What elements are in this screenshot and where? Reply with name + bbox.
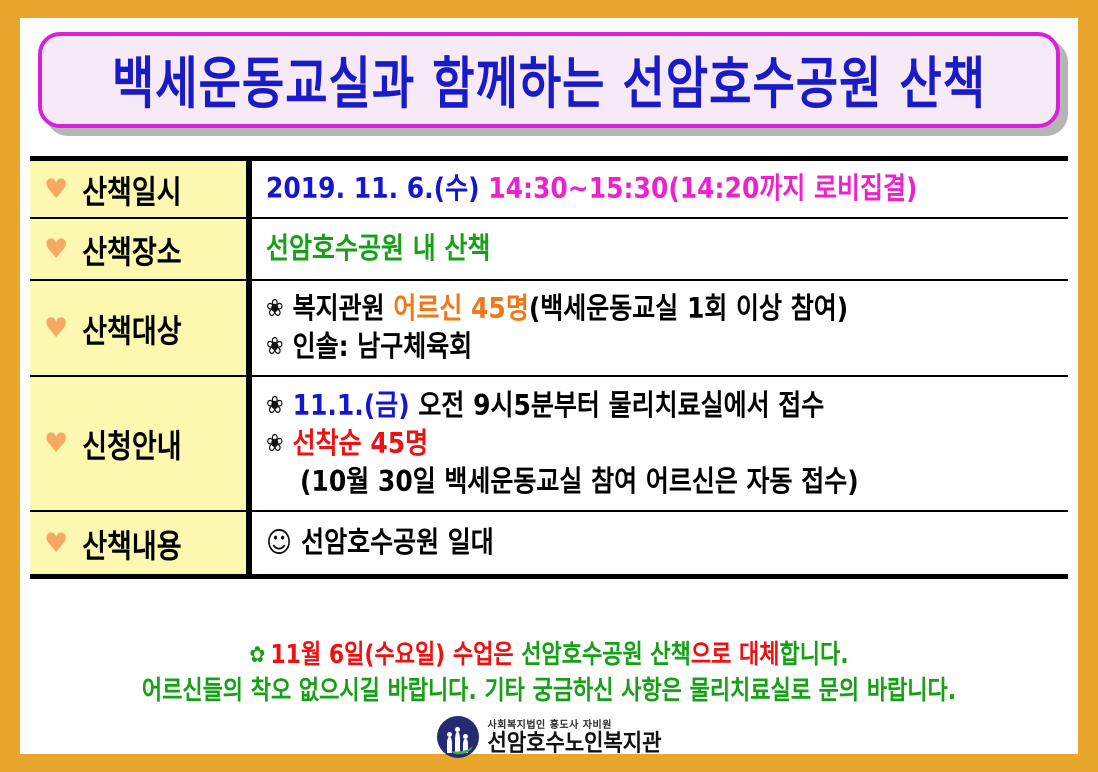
value-line: ❀선착순 45명 [266,422,1068,466]
flower-bullet-icon: ❀ [266,391,284,419]
text-segment: 으로 대체 [691,641,780,671]
row-label-cell: ♥산책내용 [30,512,252,574]
row-value-cell: 2019. 11. 6.(수) 14:30~15:30(14:20까지 로비집결… [252,161,1068,217]
page-title: 백세운동교실과 함께하는 선암호수공원 산책 [112,40,986,121]
table-row: ♥산책일시2019. 11. 6.(수) 14:30~15:30(14:20까지… [30,161,1068,219]
row-value-cell: ❀11.1.(금) 오전 9시5분부터 물리치료실에서 접수❀선착순 45명(1… [252,377,1068,510]
heart-icon: ♥ [44,236,68,263]
text-segment: 9시5분 [473,388,554,421]
poster-inner: 백세운동교실과 함께하는 선암호수공원 산책 ♥산책일시2019. 11. 6.… [20,18,1078,754]
text-segment: 어르신들의 착오 없으시길 바랍니다. 기타 궁금하신 사항은 물리치료실로 문… [142,676,956,706]
value-line: 2019. 11. 6.(수) 14:30~15:30(14:20까지 로비집결… [266,167,1068,211]
footer-notes: ✿11월 6일(수요일) 수업은 선암호수공원 산책으로 대체합니다.어르신들의… [30,638,1068,709]
heart-icon: ♥ [44,430,68,457]
row-label-cell: ♥신청안내 [30,377,252,510]
value-line: ☺선암호수공원 일대 [266,521,1068,565]
heart-icon: ♥ [44,315,68,342]
text-segment: 어르신 45명 [393,292,529,325]
value-line: 선암호수공원 내 산책 [266,227,1068,271]
logo-text-block: 사회복지법인 홍도사 자비원 선암호수노인복지관 [488,721,662,754]
text-segment: 선암호수공원 일대 [301,526,494,559]
text-segment: (10월 30일 백세운동교실 참여 어르신은 자동 접수) [300,464,859,497]
text-segment: 2019. 11. 6.(수) [266,172,488,205]
row-value-cell: 선암호수공원 내 산책 [252,219,1068,279]
organization-logo: 사회복지법인 홍도사 자비원 선암호수노인복지관 [20,716,1078,758]
row-label-cell: ♥산책일시 [30,161,252,217]
note-flower-icon: ✿ [249,642,265,668]
heart-icon: ♥ [44,176,68,203]
poster-frame: 백세운동교실과 함께하는 선암호수공원 산책 ♥산책일시2019. 11. 6.… [0,0,1098,772]
row-label-text: 산책대상 [82,305,181,351]
value-line: ❀인솔: 남구체육회 [266,325,1068,369]
text-segment: 오전 [410,388,473,421]
value-line: (10월 30일 백세운동교실 참여 어르신은 자동 접수) [266,460,1068,504]
note-line: 어르신들의 착오 없으시길 바랍니다. 기타 궁금하신 사항은 물리치료실로 문… [30,670,1068,712]
title-banner: 백세운동교실과 함께하는 선암호수공원 산책 [38,32,1060,128]
smiley-bullet-icon: ☺ [266,526,292,559]
row-label-text: 신청안내 [82,420,181,466]
value-line: ❀11.1.(금) 오전 9시5분부터 물리치료실에서 접수 [266,384,1068,428]
table-row: ♥신청안내❀11.1.(금) 오전 9시5분부터 물리치료실에서 접수❀선착순 … [30,377,1068,512]
logo-emblem-icon [437,716,479,758]
row-value-cell: ❀복지관원 어르신 45명(백세운동교실 1회 이상 참여)❀인솔: 남구체육회 [252,281,1068,375]
flower-bullet-icon: ❀ [266,294,284,322]
text-segment: 선암호수공원 산책 [521,641,691,671]
flower-bullet-icon: ❀ [266,332,284,360]
table-row: ♥산책내용☺선암호수공원 일대 [30,512,1068,574]
text-segment: (백세운동교실 1회 이상 참여) [529,292,848,325]
row-value-cell: ☺선암호수공원 일대 [252,512,1068,574]
table-row: ♥산책장소선암호수공원 내 산책 [30,219,1068,281]
row-label-text: 산책장소 [82,226,181,272]
row-label-text: 산책일시 [82,166,181,212]
row-label-text: 산책내용 [82,520,181,566]
row-label-cell: ♥산책장소 [30,219,252,279]
text-segment: 11월 6일(수요일) 수업은 [270,641,521,671]
logo-title: 선암호수노인복지관 [488,731,662,754]
text-segment: 복지관원 [293,292,394,325]
title-banner-box: 백세운동교실과 함께하는 선암호수공원 산책 [38,32,1060,128]
text-segment: 합니다. [780,641,849,671]
info-table: ♥산책일시2019. 11. 6.(수) 14:30~15:30(14:20까지… [30,156,1068,579]
flower-bullet-icon: ❀ [266,429,284,457]
text-segment: 선암호수공원 내 산책 [266,232,490,265]
heart-icon: ♥ [44,530,68,557]
text-segment: 부터 물리치료실에서 접수 [554,388,824,421]
text-segment: 14:30~15:30(14:20까지 로비집결) [488,172,917,205]
row-label-cell: ♥산책대상 [30,281,252,375]
text-segment: 선착순 45명 [293,426,429,459]
text-segment: 11.1.(금) [293,388,410,421]
table-row: ♥산책대상❀복지관원 어르신 45명(백세운동교실 1회 이상 참여)❀인솔: … [30,281,1068,377]
text-segment: 인솔: 남구체육회 [293,330,473,363]
